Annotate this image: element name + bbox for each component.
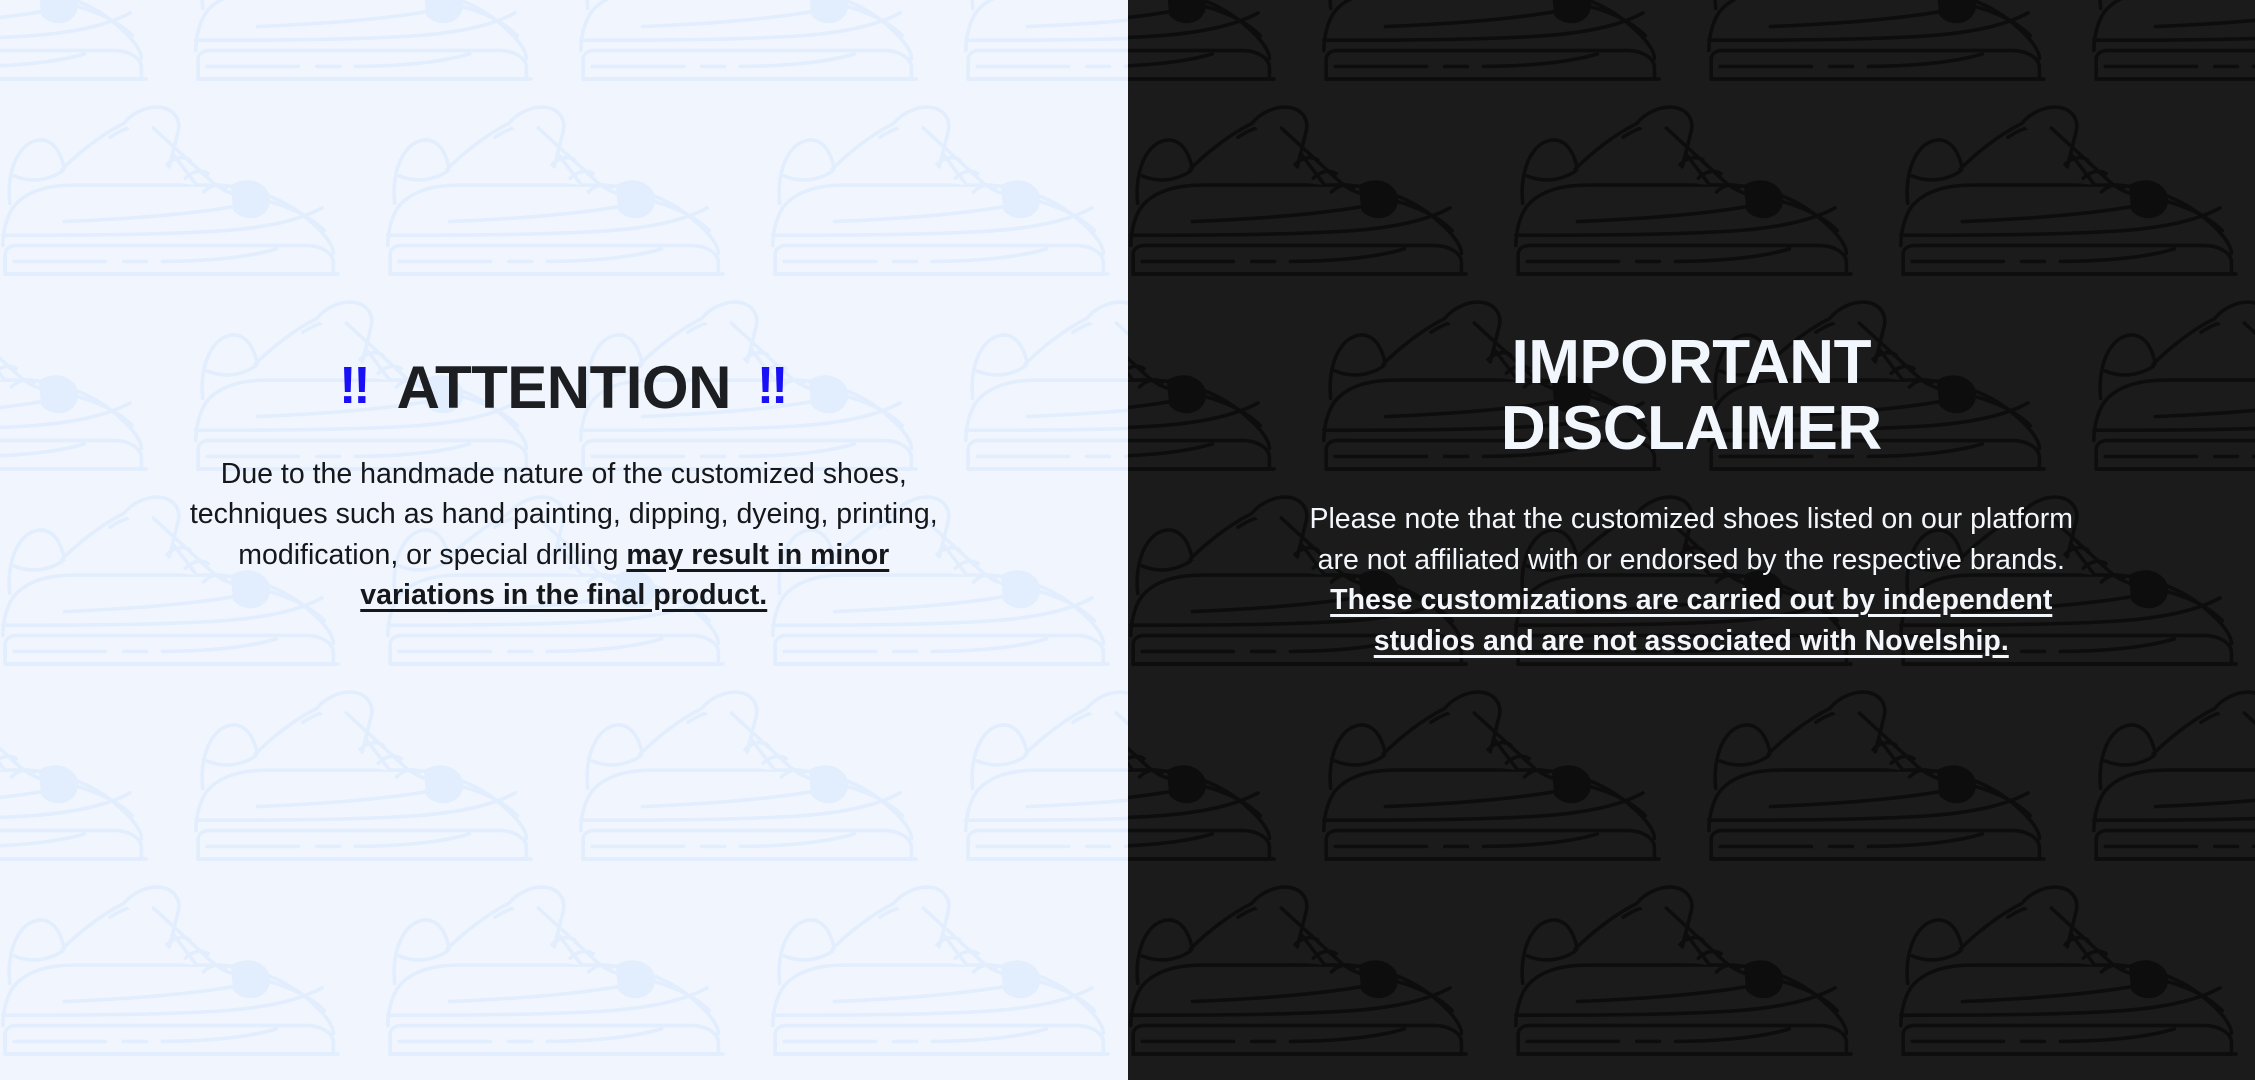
attention-panel: ‼ ATTENTION ‼ Due to the handmade nature… xyxy=(0,0,1128,1080)
attention-content: ‼ ATTENTION ‼ Due to the handmade nature… xyxy=(0,0,1128,644)
disclaimer-heading-line-1: IMPORTANT xyxy=(1512,328,1871,397)
disclaimer-body-lead: Please note that the customized shoes li… xyxy=(1309,503,2073,575)
disclaimer-heading: IMPORTANT DISCLAIMER xyxy=(1501,330,1882,461)
attention-heading-label: ATTENTION xyxy=(397,358,731,418)
double-exclamation-mark-icon-right: ‼ xyxy=(757,360,788,412)
disclaimer-panel: IMPORTANT DISCLAIMER Please note that th… xyxy=(1128,0,2255,1080)
disclaimer-body: Please note that the customized shoes li… xyxy=(1291,499,2091,661)
disclaimer-heading-line-2: DISCLAIMER xyxy=(1501,394,1882,463)
attention-heading: ‼ ATTENTION ‼ xyxy=(339,358,788,418)
double-exclamation-mark-icon-left: ‼ xyxy=(339,360,370,412)
disclaimer-body-emphasis: These customizations are carried out by … xyxy=(1330,584,2052,656)
disclaimer-content: IMPORTANT DISCLAIMER Please note that th… xyxy=(1128,0,2255,690)
banner-stage: ‼ ATTENTION ‼ Due to the handmade nature… xyxy=(0,0,2255,1080)
attention-body: Due to the handmade nature of the custom… xyxy=(169,454,959,616)
